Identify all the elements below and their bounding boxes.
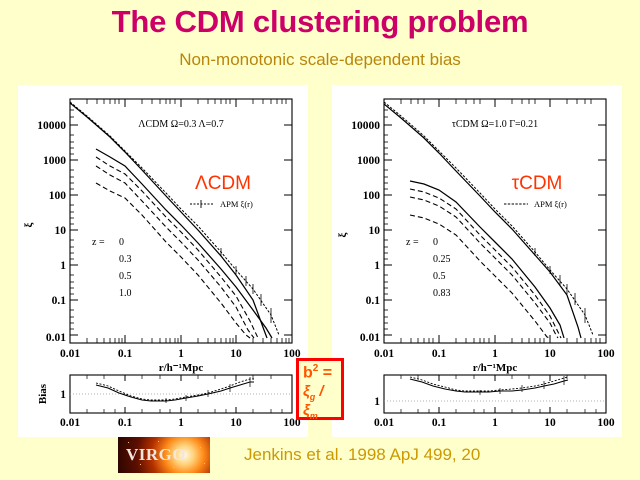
tcdm-series-apm — [384, 102, 593, 335]
tcdm-xlabel: r/h⁻¹Mpc — [473, 362, 518, 374]
bias-definition-callout: b2 = ξg / ξm — [296, 358, 344, 420]
lcdm-z-val-2: 0.5 — [119, 271, 132, 282]
lcdm-y-ticks — [70, 125, 292, 335]
lcdm-bias-xtick-10: 10 — [230, 417, 242, 429]
lcdm-curves — [70, 102, 279, 338]
bsq-numerator: ξ — [303, 383, 310, 400]
tcdm-plot-svg: 10000 1000 100 10 1 0.1 0.01 ξ — [332, 85, 622, 437]
tcdm-series-z0.5 — [410, 197, 558, 338]
citation-text: Jenkins et al. 1998 ApJ 499, 20 — [244, 445, 480, 465]
figure-lcdm: 10000 1000 100 10 1 0.1 0.01 ξ — [18, 85, 308, 437]
tcdm-legend: APM ξ(r) — [504, 199, 567, 209]
tcdm-xtick-0.1: 0.1 — [432, 348, 447, 360]
tcdm-z-val-1: 0.25 — [433, 254, 451, 265]
figure-tcdm: 10000 1000 100 10 1 0.1 0.01 ξ — [332, 85, 622, 437]
lcdm-ytick-100: 100 — [49, 190, 67, 202]
tcdm-ytick-1000: 1000 — [357, 155, 380, 167]
tcdm-xtick-10: 10 — [544, 348, 556, 360]
page-title: The CDM clustering problem — [0, 4, 640, 40]
tcdm-z-val-2: 0.5 — [433, 271, 446, 282]
lcdm-ytick-10: 10 — [55, 225, 67, 237]
lcdm-series-dm-z0 — [70, 103, 267, 338]
tcdm-model-params: τCDM Ω=1.0 Γ=0.21 — [452, 119, 538, 130]
lcdm-ytick-10000: 10000 — [37, 120, 66, 132]
tcdm-ytick-100: 100 — [363, 190, 381, 202]
lcdm-legend-label: APM ξ(r) — [220, 199, 253, 209]
lcdm-z-list: z = 0 0.3 0.5 1.0 — [92, 237, 132, 299]
lcdm-xtick-1: 1 — [178, 348, 184, 360]
lcdm-ytick-0.01: 0.01 — [46, 332, 66, 344]
lcdm-model-label: ΛCDM — [195, 173, 251, 194]
lcdm-legend: APM ξ(r) — [190, 199, 253, 209]
lcdm-bias-xtick-0.1: 0.1 — [118, 417, 133, 429]
tcdm-bias-curves — [410, 376, 568, 395]
bsq-equals: = — [318, 364, 332, 381]
lcdm-ytick-1000: 1000 — [43, 155, 66, 167]
tcdm-x-minor-ticks — [401, 99, 600, 343]
lcdm-y-minor-ticks — [70, 110, 74, 329]
tcdm-axes-frame — [384, 99, 606, 343]
lcdm-bias-curves — [96, 377, 254, 403]
tcdm-bias-xtick-10: 10 — [544, 417, 556, 429]
lcdm-x-ticks — [70, 99, 292, 343]
tcdm-y-ticks — [384, 125, 606, 335]
tcdm-xtick-1: 1 — [492, 348, 498, 360]
tcdm-ytick-1: 1 — [374, 260, 380, 272]
lcdm-z-val-3: 1.0 — [119, 288, 132, 299]
tcdm-series-gal-z0 — [384, 104, 581, 338]
tcdm-series-z0.83 — [410, 215, 550, 338]
lcdm-axes-frame — [70, 99, 292, 343]
lcdm-xtick-0.1: 0.1 — [118, 348, 133, 360]
tcdm-bias-xtick-100: 100 — [597, 417, 615, 429]
tcdm-x-ticks — [384, 99, 606, 343]
bsq-b: b — [303, 364, 313, 381]
bsq-divider: / — [315, 383, 323, 400]
tcdm-legend-label: APM ξ(r) — [534, 199, 567, 209]
tcdm-ytick-10: 10 — [369, 225, 381, 237]
tcdm-bias-xtick-0.01: 0.01 — [374, 417, 394, 429]
virgo-logo-text: VIRGO — [126, 445, 186, 465]
lcdm-xtick-10: 10 — [230, 348, 242, 360]
tcdm-bias-xtick-1: 1 — [492, 417, 498, 429]
lcdm-ylabel: ξ — [23, 222, 35, 227]
lcdm-z-val-0: 0 — [119, 237, 124, 248]
tcdm-bias-ytick-1: 1 — [374, 396, 380, 408]
tcdm-ytick-10000: 10000 — [351, 120, 380, 132]
page-subtitle: Non-monotonic scale-dependent bias — [0, 50, 640, 70]
lcdm-z-val-1: 0.3 — [119, 254, 132, 265]
virgo-logo: VIRGO — [118, 437, 210, 473]
bsq-denominator: ξ — [303, 402, 310, 419]
bsq-denominator-sub: m — [310, 411, 318, 421]
tcdm-z-val-0: 0 — [433, 237, 438, 248]
tcdm-z-label: z = — [406, 237, 419, 248]
tcdm-z-val-3: 0.83 — [433, 288, 451, 299]
lcdm-xtick-0.01: 0.01 — [60, 348, 80, 360]
lcdm-ytick-1: 1 — [60, 260, 66, 272]
lcdm-plot-svg: 10000 1000 100 10 1 0.1 0.01 ξ — [18, 85, 308, 437]
lcdm-bias-xtick-1: 1 — [178, 417, 184, 429]
tcdm-y-minor-ticks — [384, 110, 388, 329]
lcdm-z-label: z = — [92, 237, 105, 248]
lcdm-x-minor-ticks — [87, 99, 289, 343]
tcdm-ylabel: ξ — [337, 232, 349, 237]
lcdm-bias-xtick-0.01: 0.01 — [60, 417, 80, 429]
tcdm-xtick-100: 100 — [597, 348, 615, 360]
lcdm-model-params: ΛCDM Ω=0.3 Λ=0.7 — [138, 119, 223, 130]
lcdm-xlabel: r/h⁻¹Mpc — [159, 362, 204, 374]
lcdm-bias-ytick-1: 1 — [60, 389, 66, 401]
tcdm-model-label: τCDM — [512, 173, 563, 194]
lcdm-bias-ylabel: Bias — [37, 383, 49, 404]
tcdm-z-list: z = 0 0.25 0.5 0.83 — [406, 237, 451, 299]
tcdm-xtick-0.01: 0.01 — [374, 348, 394, 360]
tcdm-ytick-0.1: 0.1 — [366, 295, 381, 307]
lcdm-apm-errorbars — [221, 248, 271, 323]
tcdm-ytick-0.01: 0.01 — [360, 332, 380, 344]
slide-root: The CDM clustering problem Non-monotonic… — [0, 0, 640, 480]
lcdm-ytick-0.1: 0.1 — [52, 295, 67, 307]
tcdm-bias-xtick-0.1: 0.1 — [432, 417, 447, 429]
tcdm-curves — [384, 102, 593, 338]
